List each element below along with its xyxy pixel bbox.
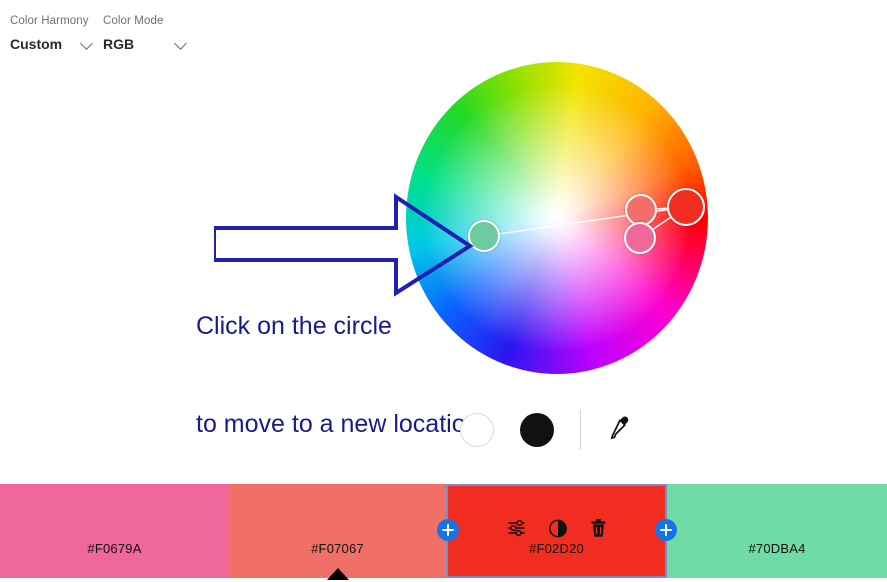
- black-color-circle[interactable]: [520, 413, 554, 447]
- color-swatch-4[interactable]: #70DBA4: [667, 484, 887, 578]
- color-picker-panel: Color Harmony Custom Color Mode RGB Clic…: [0, 0, 887, 582]
- swatch-hex-label: #70DBA4: [748, 541, 805, 556]
- sliders-icon[interactable]: [506, 519, 526, 537]
- marker-red[interactable]: [667, 188, 705, 226]
- caret-up-icon: [327, 568, 349, 580]
- swatch-hex-label: #F0679A: [87, 541, 141, 556]
- add-swatch-button-2[interactable]: [655, 519, 677, 541]
- harmony-connector-lines: [406, 62, 708, 374]
- swatch-tool-row: [506, 518, 607, 538]
- color-swatch-3[interactable]: #F02D20: [446, 484, 667, 578]
- color-mode-label: Color Mode: [103, 15, 188, 27]
- marker-pink[interactable]: [624, 222, 656, 254]
- color-harmony-label: Color Harmony: [10, 15, 94, 27]
- white-color-circle[interactable]: [460, 413, 494, 447]
- color-wheel[interactable]: [406, 62, 708, 374]
- color-swatch-2[interactable]: #F07067: [229, 484, 446, 578]
- picker-controls: [460, 405, 680, 455]
- swatch-hex-label: #F02D20: [529, 541, 584, 556]
- chevron-down-icon: [174, 37, 188, 51]
- marker-green[interactable]: [468, 220, 500, 252]
- swatch-hex-label: #F07067: [311, 541, 364, 556]
- contrast-icon[interactable]: [548, 519, 567, 538]
- controls-divider: [580, 410, 581, 450]
- color-harmony-select[interactable]: Custom: [10, 36, 94, 52]
- eyedropper-icon[interactable]: [607, 415, 631, 446]
- color-mode-select[interactable]: RGB: [103, 36, 188, 52]
- color-swatch-1[interactable]: #F0679A: [0, 484, 229, 578]
- picker-header: Color Harmony Custom Color Mode RGB: [0, 0, 887, 66]
- chevron-down-icon: [80, 37, 94, 51]
- annotation-line-2: to move to a new location.: [196, 408, 486, 441]
- trash-icon[interactable]: [589, 518, 607, 538]
- color-mode-value: RGB: [103, 36, 134, 52]
- color-harmony-value: Custom: [10, 36, 62, 52]
- add-swatch-button-1[interactable]: [437, 519, 459, 541]
- color-mode-field: Color Mode RGB: [103, 15, 188, 52]
- color-harmony-field: Color Harmony Custom: [10, 15, 94, 52]
